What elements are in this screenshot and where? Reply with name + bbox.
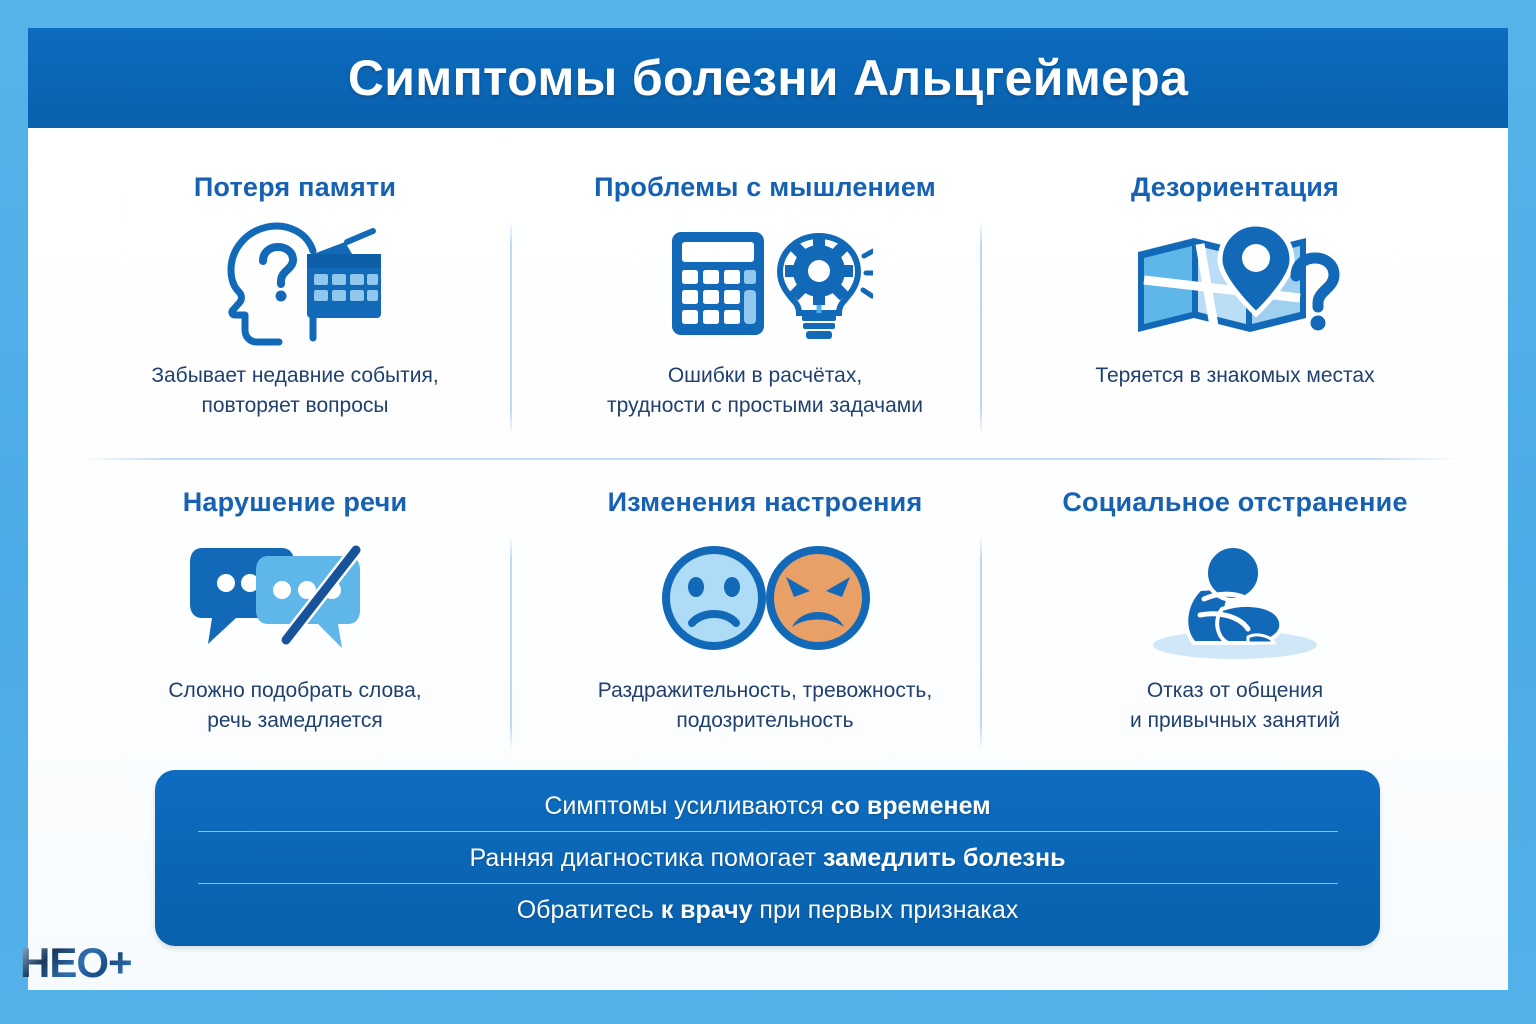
symptoms-row-1: Потеря памяти xyxy=(60,150,1480,445)
infographic-poster: Симптомы болезни Альцгеймера Потеря памя… xyxy=(0,0,1536,1024)
symptom-card-disorientation: Дезориентация xyxy=(1000,150,1470,445)
sad-angry-faces-icon xyxy=(658,528,873,668)
symptoms-grid: Потеря памяти xyxy=(60,150,1480,760)
map-pin-question-icon xyxy=(1128,213,1343,353)
page-title: Симптомы болезни Альцгеймера xyxy=(348,49,1188,107)
symptom-card-thinking-problems: Проблемы с мышлением xyxy=(530,150,1000,445)
card-title: Дезориентация xyxy=(1131,172,1339,203)
card-desc-line: повторяет вопросы xyxy=(202,394,389,417)
card-description: Ошибки в расчётах, трудности с простыми … xyxy=(607,361,923,421)
symptom-card-speech-impairment: Нарушение речи xyxy=(60,465,530,760)
banner-line-1-plain: Симптомы усиливаются xyxy=(544,792,830,820)
card-description: Отказ от общения и привычных занятий xyxy=(1130,676,1340,736)
card-desc-line: трудности с простыми задачами xyxy=(607,394,923,417)
symptoms-row-2: Нарушение речи xyxy=(60,465,1480,760)
card-desc-line: подозрительность xyxy=(676,709,853,732)
card-title: Проблемы с мышлением xyxy=(594,172,936,203)
card-desc-line: Сложно подобрать слова, xyxy=(168,679,421,702)
sitting-person-icon xyxy=(1128,528,1343,668)
card-title: Потеря памяти xyxy=(194,172,396,203)
horizontal-divider xyxy=(80,458,1460,460)
card-description: Раздражительность, тревожность, подозрит… xyxy=(598,676,932,736)
banner-line-3-tail: при первых признаках xyxy=(752,896,1018,924)
symptom-card-social-withdrawal: Социальное отстранение xyxy=(1000,465,1470,760)
card-title: Изменения настроения xyxy=(608,487,923,518)
card-description: Забывает недавние события, повторяет воп… xyxy=(151,361,438,421)
card-description: Сложно подобрать слова, речь замедляется xyxy=(168,676,421,736)
banner-line-2: Ранняя диагностика помогает замедлить бо… xyxy=(155,832,1380,884)
key-messages-banner: Симптомы усиливаются со временем Ранняя … xyxy=(155,770,1380,946)
card-desc-line: речь замедляется xyxy=(207,709,382,732)
symptom-card-memory-loss: Потеря памяти xyxy=(60,150,530,445)
banner-line-2-plain: Ранняя диагностика помогает xyxy=(470,844,823,872)
card-desc-line: Ошибки в расчётах, xyxy=(668,364,862,387)
banner-line-3: Обратитесь к врачу при первых признаках xyxy=(155,884,1380,936)
card-title: Социальное отстранение xyxy=(1062,487,1407,518)
head-question-calendar-icon xyxy=(195,213,395,353)
brand-logo: НЕО+ xyxy=(20,942,132,984)
card-desc-line: Раздражительность, тревожность, xyxy=(598,679,932,702)
calculator-lightbulb-gear-icon xyxy=(658,213,873,353)
card-desc-line: Теряется в знакомых местах xyxy=(1095,364,1374,387)
symptom-card-mood-changes: Изменения настроения xyxy=(530,465,1000,760)
card-title: Нарушение речи xyxy=(183,487,408,518)
card-description: Теряется в знакомых местах xyxy=(1095,361,1374,391)
card-desc-line: Отказ от общения xyxy=(1147,679,1323,702)
header-bar: Симптомы болезни Альцгеймера xyxy=(28,28,1508,128)
card-desc-line: Забывает недавние события, xyxy=(151,364,438,387)
banner-line-1-bold: со временем xyxy=(831,792,991,820)
banner-line-3-plain: Обратитесь xyxy=(517,896,661,924)
banner-line-1: Симптомы усиливаются со временем xyxy=(155,780,1380,832)
card-desc-line: и привычных занятий xyxy=(1130,709,1340,732)
banner-line-3-bold: к врачу xyxy=(661,896,753,924)
speech-bubbles-slash-icon xyxy=(190,528,400,668)
banner-line-2-bold: замедлить болезнь xyxy=(823,844,1066,872)
